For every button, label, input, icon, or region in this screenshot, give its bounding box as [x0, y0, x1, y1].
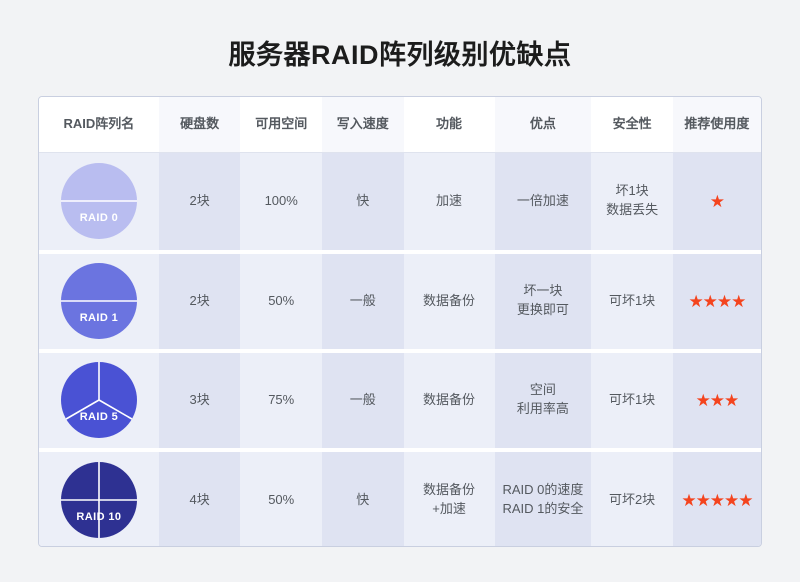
recommendation-cell: ★	[673, 153, 761, 252]
safety-cell: 可坏1块	[591, 252, 673, 351]
advantage-line-1: 坏一块	[496, 282, 591, 301]
advantage-line-1: 一倍加速	[496, 192, 591, 211]
advantage-cell: 坏一块 更换即可	[495, 252, 592, 351]
column-header-recommendation: 推荐使用度	[673, 97, 761, 153]
raid-comparison-table: RAID阵列名 硬盘数 可用空间 写入速度 功能 优点 安全性 推荐使用度	[39, 97, 761, 547]
advantage-line-2: 利用率高	[496, 400, 591, 419]
star-icon-group: ★★★	[696, 392, 739, 409]
raid-array-cell: RAID 10	[39, 450, 159, 548]
table-row: RAID 0 2块 100% 快 加速 一倍加速 坏1块 数据丢失	[39, 153, 761, 252]
column-header-usable-space: 可用空间	[240, 97, 322, 153]
write-speed-cell: 一般	[322, 252, 404, 351]
rating-stars: ★★★	[674, 392, 760, 409]
raid-disk-diagram: RAID 10	[60, 461, 138, 539]
rating-stars: ★	[674, 193, 760, 210]
advantage-cell: 一倍加速	[495, 153, 592, 252]
advantage-line-2: RAID 1的安全	[496, 500, 591, 519]
page-title: 服务器RAID阵列级别优缺点	[0, 0, 800, 69]
safety-cell: 可坏1块	[591, 351, 673, 450]
feature-cell: 加速	[404, 153, 495, 252]
safety-line-1: 坏1块	[592, 182, 672, 201]
write-speed-cell: 快	[322, 153, 404, 252]
advantage-line-1: RAID 0的速度	[496, 481, 591, 500]
page-root: 服务器RAID阵列级别优缺点 TRINITY FORCE 三 | 相 | 之 |…	[0, 0, 800, 582]
safety-line-1: 可坏2块	[592, 491, 672, 510]
advantage-cell: 空间 利用率高	[495, 351, 592, 450]
star-icon-group: ★★★★★	[681, 492, 752, 509]
recommendation-cell: ★★★★	[673, 252, 761, 351]
safety-line-1: 可坏1块	[592, 292, 672, 311]
advantage-cell: RAID 0的速度 RAID 1的安全	[495, 450, 592, 548]
feature-line-1: 数据备份	[405, 481, 494, 500]
table-row: RAID 1 2块 50% 一般 数据备份 坏一块 更换即可 可坏1块	[39, 252, 761, 351]
write-speed-cell: 一般	[322, 351, 404, 450]
raid-comparison-card: TRINITY FORCE 三 | 相 | 之 | 力 RAID阵列名 硬盘数 …	[38, 96, 762, 547]
table-row: RAID 10 4块 50% 快 数据备份 +加速 RAID 0的速度 RAID…	[39, 450, 761, 548]
disk-count-cell: 2块	[159, 153, 241, 252]
column-header-advantage: 优点	[495, 97, 592, 153]
usable-space-cell: 100%	[240, 153, 322, 252]
disk-count-cell: 4块	[159, 450, 241, 548]
disk-count-cell: 3块	[159, 351, 241, 450]
write-speed-cell: 快	[322, 450, 404, 548]
raid-disk-diagram: RAID 5	[60, 361, 138, 439]
column-header-safety: 安全性	[591, 97, 673, 153]
raid-disk-diagram: RAID 1	[60, 262, 138, 340]
raid-array-cell: RAID 0	[39, 153, 159, 252]
raid-disk-diagram: RAID 0	[60, 162, 138, 240]
feature-cell: 数据备份 +加速	[404, 450, 495, 548]
table-row: RAID 5 3块 75% 一般 数据备份 空间 利用率高 可坏1块	[39, 351, 761, 450]
recommendation-cell: ★★★	[673, 351, 761, 450]
advantage-line-2: 更换即可	[496, 301, 591, 320]
safety-cell: 坏1块 数据丢失	[591, 153, 673, 252]
table-header-row: RAID阵列名 硬盘数 可用空间 写入速度 功能 优点 安全性 推荐使用度	[39, 97, 761, 153]
feature-cell: 数据备份	[404, 252, 495, 351]
column-header-write-speed: 写入速度	[322, 97, 404, 153]
rating-stars: ★★★★★	[674, 492, 760, 509]
column-header-disk-count: 硬盘数	[159, 97, 241, 153]
feature-cell: 数据备份	[404, 351, 495, 450]
rating-stars: ★★★★	[674, 293, 760, 310]
safety-line-2: 数据丢失	[592, 201, 672, 220]
column-header-raid-name: RAID阵列名	[39, 97, 159, 153]
column-header-feature: 功能	[404, 97, 495, 153]
disk-count-cell: 2块	[159, 252, 241, 351]
safety-cell: 可坏2块	[591, 450, 673, 548]
recommendation-cell: ★★★★★	[673, 450, 761, 548]
advantage-line-1: 空间	[496, 381, 591, 400]
raid-array-cell: RAID 5	[39, 351, 159, 450]
feature-line-2: +加速	[405, 500, 494, 519]
usable-space-cell: 50%	[240, 252, 322, 351]
usable-space-cell: 75%	[240, 351, 322, 450]
star-icon-group: ★★★★	[688, 293, 745, 310]
star-icon-group: ★	[710, 193, 724, 210]
usable-space-cell: 50%	[240, 450, 322, 548]
raid-array-cell: RAID 1	[39, 252, 159, 351]
safety-line-1: 可坏1块	[592, 391, 672, 410]
